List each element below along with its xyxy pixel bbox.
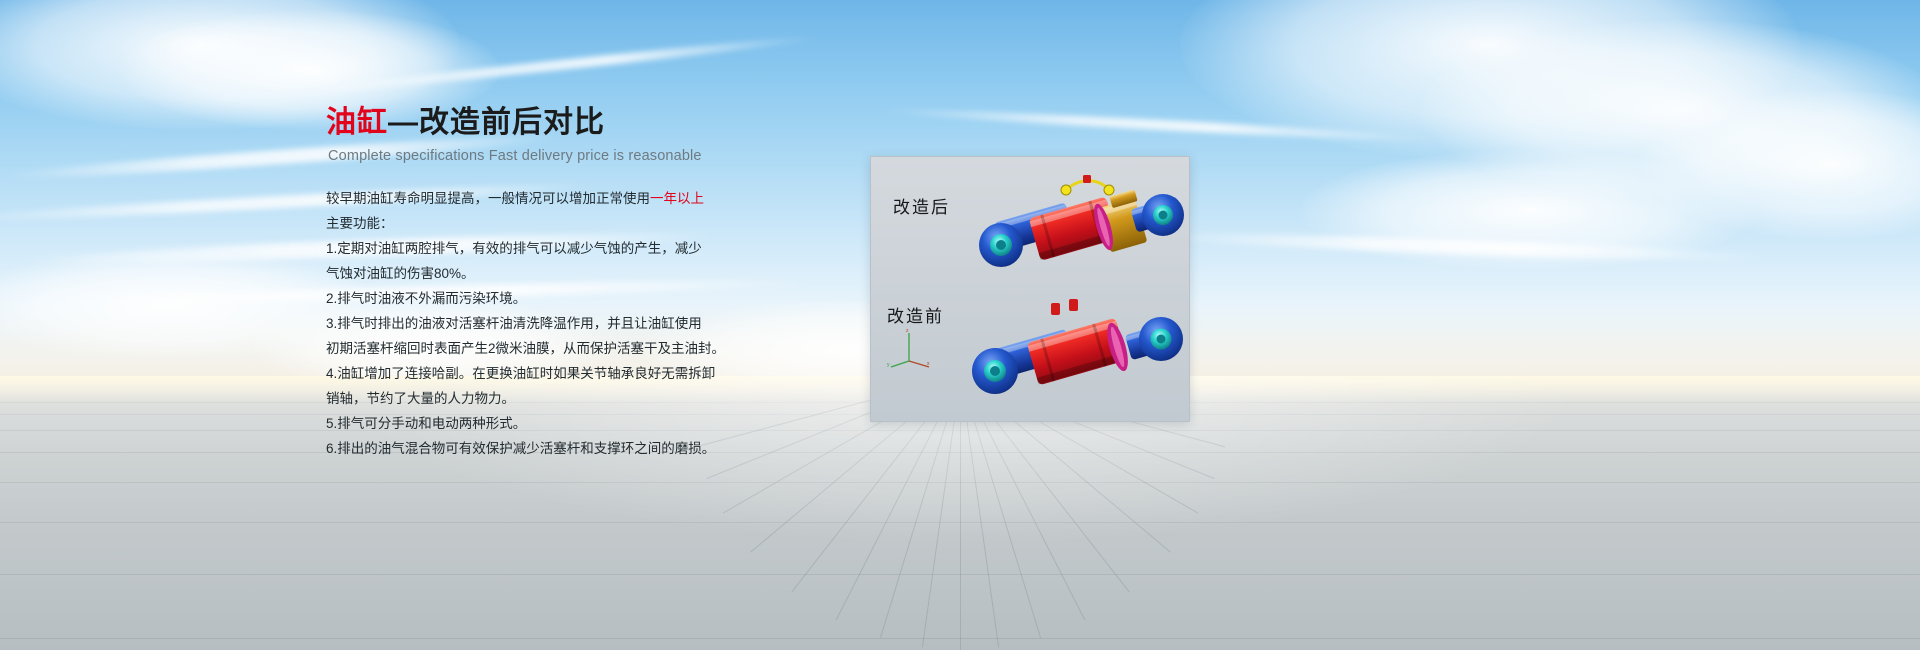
body-line: 2.排气时油液不外漏而污染环境。 — [326, 286, 846, 311]
clevis-eye-right — [1142, 194, 1184, 236]
clevis-eye-right — [1139, 317, 1183, 361]
page-subtitle: Complete specifications Fast delivery pr… — [328, 148, 846, 164]
copy-block: 油缸—改造前后对比 Complete specifications Fast d… — [326, 104, 846, 461]
cloud-streak — [880, 105, 1440, 144]
body-line: 主要功能： — [326, 211, 846, 236]
cloud-shape — [1180, 0, 1800, 160]
product-image-panel[interactable]: 改造后 改造前 z y x — [870, 156, 1190, 422]
body-line: 较早期油缸寿命明显提高，一般情况可以增加正常使用一年以上 — [326, 186, 846, 211]
label-after-retrofit: 改造后 — [893, 193, 950, 218]
page-title-accent: 油缸 — [326, 106, 388, 139]
cloud-streak — [301, 33, 819, 97]
port-cap — [1051, 299, 1078, 315]
page-title: 油缸—改造前后对比 — [326, 104, 846, 142]
body-line: 气蚀对油缸的伤害80%。 — [326, 261, 846, 286]
body-line-accent: 一年以上 — [650, 191, 704, 206]
cloud-shape — [0, 250, 380, 360]
body-line: 5.排气可分手动和电动两种形式。 — [326, 411, 846, 436]
body-line: 6.排出的油气混合物可有效保护减少活塞杆和支撑环之间的磨损。 — [326, 436, 846, 461]
label-before-retrofit: 改造前 — [887, 302, 944, 327]
svg-text:x: x — [927, 361, 930, 367]
body-line: 3.排气时排出的油液对活塞杆油清洗降温作用，并且让油缸使用 — [326, 311, 846, 336]
cloud-shape — [1640, 90, 1920, 240]
body-line: 销轴，节约了大量的人力物力。 — [326, 386, 846, 411]
body-line: 1.定期对油缸两腔排气，有效的排气可以减少气蚀的产生，减少 — [326, 236, 846, 261]
cloud-streak — [1150, 229, 1770, 265]
cloud-shape — [1420, 20, 1920, 200]
body-line: 初期活塞杆缩回时表面产生2微米油膜，从而保护活塞干及主油封。 — [326, 336, 846, 361]
page-title-rest: —改造前后对比 — [388, 106, 605, 139]
clevis-eye-left — [979, 223, 1023, 267]
body-line-text: 较早期油缸寿命明显提高，一般情况可以增加正常使用 — [326, 191, 650, 206]
svg-text:y: y — [887, 362, 890, 368]
body-copy: 较早期油缸寿命明显提高，一般情况可以增加正常使用一年以上 主要功能： 1.定期对… — [326, 186, 846, 461]
cylinder-before-retrofit — [959, 277, 1190, 407]
body-line: 4.油缸增加了连接哈副。在更换油缸时如果关节轴承良好无需拆卸 — [326, 361, 846, 386]
clevis-eye-left — [972, 348, 1018, 394]
axis-gizmo-icon: z y x — [887, 327, 933, 369]
cloud-shape — [1300, 150, 1760, 270]
cylinder-after-retrofit — [967, 167, 1190, 287]
bleed-valve — [1061, 175, 1114, 195]
banner-stage: 油缸—改造前后对比 Complete specifications Fast d… — [0, 0, 1920, 650]
